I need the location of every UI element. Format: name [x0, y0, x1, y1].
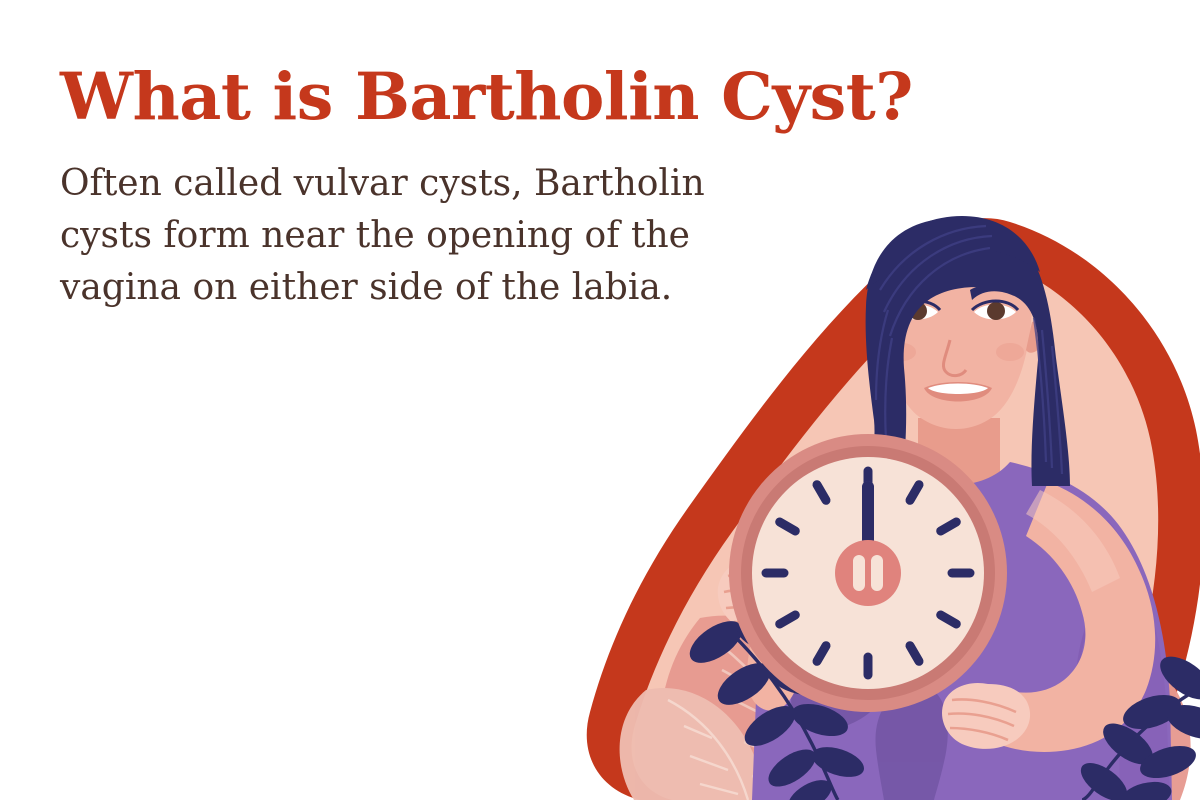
infographic-canvas: What is Bartholin Cyst? Often called vul… [0, 0, 1200, 800]
clock-hub [835, 540, 901, 606]
hand-on-belly [942, 683, 1030, 749]
wall-clock [729, 434, 1007, 712]
text-block: What is Bartholin Cyst? Often called vul… [60, 62, 860, 314]
page-title: What is Bartholin Cyst? [60, 62, 860, 132]
page-subtitle: Often called vulvar cysts, Bartholin cys… [60, 158, 800, 313]
